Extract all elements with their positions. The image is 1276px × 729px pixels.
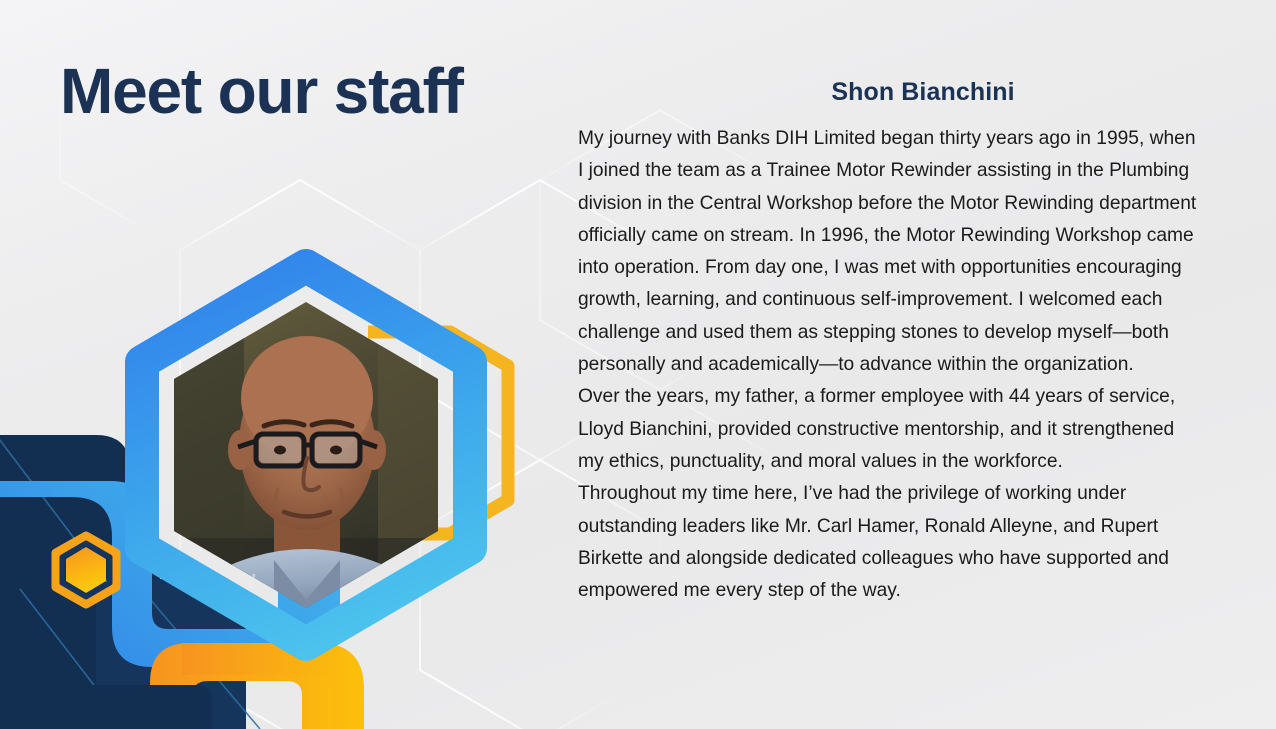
bio-line: my ethics, punctuality, and moral values… (578, 446, 1268, 478)
bio-line: I joined the team as a Trainee Motor Rew… (578, 155, 1268, 187)
bio-line: Birkette and alongside dedicated colleag… (578, 543, 1268, 575)
bio-line: outstanding leaders like Mr. Carl Hamer,… (578, 511, 1268, 543)
portrait-hexagon-cluster (78, 248, 598, 668)
profile-bio: My journey with Banks DIH Limited began … (578, 123, 1268, 607)
navy-bar-overlay (36, 685, 212, 729)
bio-line: Throughout my time here, I’ve had the pr… (578, 478, 1268, 510)
bio-line: My journey with Banks DIH Limited began … (578, 123, 1268, 155)
bio-paragraph: Throughout my time here, I’ve had the pr… (578, 478, 1268, 607)
bio-line: personally and academically—to advance w… (578, 349, 1268, 381)
bio-line: empowered me every step of the way. (578, 575, 1268, 607)
bio-line: growth, learning, and continuous self-im… (578, 284, 1268, 316)
bio-line: Over the years, my father, a former empl… (578, 381, 1268, 413)
profile-panel: Shon Bianchini My journey with Banks DIH… (578, 78, 1268, 607)
page-title: Meet our staff (60, 58, 463, 125)
bio-line: challenge and used them as stepping ston… (578, 317, 1268, 349)
bio-line: division in the Central Workshop before … (578, 188, 1268, 220)
bio-paragraph: Over the years, my father, a former empl… (578, 381, 1268, 478)
bio-line: Lloyd Bianchini, provided constructive m… (578, 414, 1268, 446)
bio-line: officially came on stream. In 1996, the … (578, 220, 1268, 252)
bio-line: into operation. From day one, I was met … (578, 252, 1268, 284)
profile-name: Shon Bianchini (578, 78, 1268, 107)
bio-paragraph: My journey with Banks DIH Limited began … (578, 123, 1268, 381)
